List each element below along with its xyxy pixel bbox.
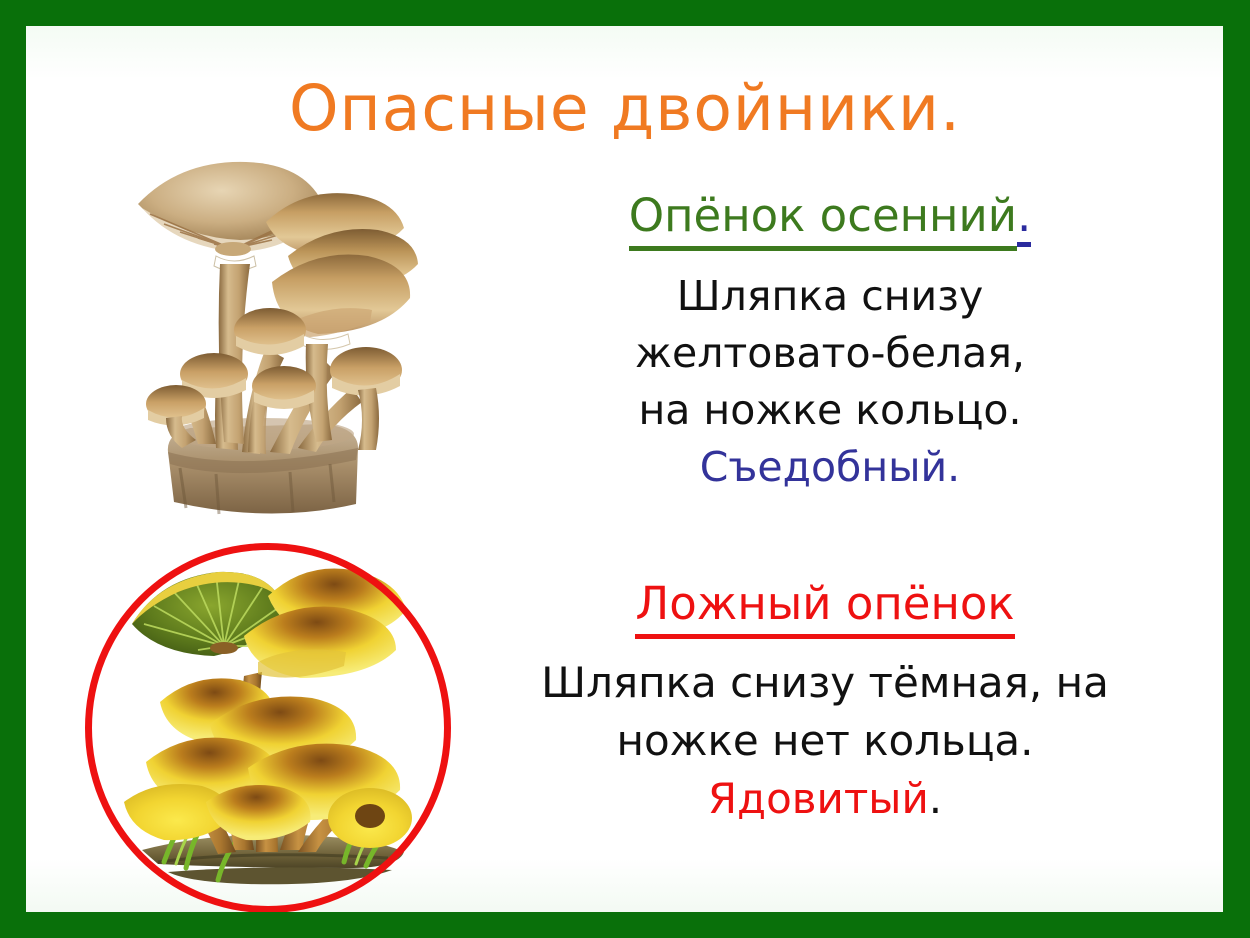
- edible-mushroom-illustration: [120, 152, 420, 534]
- edible-line-3: на ножке кольцо.: [470, 382, 1190, 439]
- warning-circle-highlight: [85, 543, 451, 913]
- edible-verdict: Съедобный.: [470, 439, 1190, 496]
- edible-verdict-dot: .: [947, 443, 960, 491]
- edible-verdict-label: Съедобный: [700, 443, 947, 491]
- page-title: Опасные двойники.: [0, 74, 1250, 144]
- poisonous-heading-label: Ложный опёнок: [635, 577, 1014, 639]
- poisonous-info-block: Ложный опёнок Шляпка снизу тёмная, на но…: [455, 578, 1195, 828]
- edible-line-2: желтовато-белая,: [470, 325, 1190, 382]
- poisonous-line-2: ножке нет кольца.: [455, 712, 1195, 770]
- poisonous-heading: Ложный опёнок: [455, 578, 1195, 630]
- edible-heading: Опёнок осенний.: [470, 190, 1190, 242]
- edible-heading-label: Опёнок осенний: [629, 189, 1017, 251]
- poisonous-verdict: Ядовитый.: [455, 770, 1195, 828]
- poisonous-line-1: Шляпка снизу тёмная, на: [455, 654, 1195, 712]
- slide-canvas: Опасные двойники.: [0, 0, 1250, 938]
- edible-heading-tail: .: [1017, 189, 1031, 247]
- edible-info-block: Опёнок осенний. Шляпка снизу желтовато-б…: [470, 190, 1190, 496]
- poisonous-verdict-dot: .: [929, 774, 942, 823]
- poisonous-verdict-label: Ядовитый: [708, 774, 929, 823]
- edible-line-1: Шляпка снизу: [470, 268, 1190, 325]
